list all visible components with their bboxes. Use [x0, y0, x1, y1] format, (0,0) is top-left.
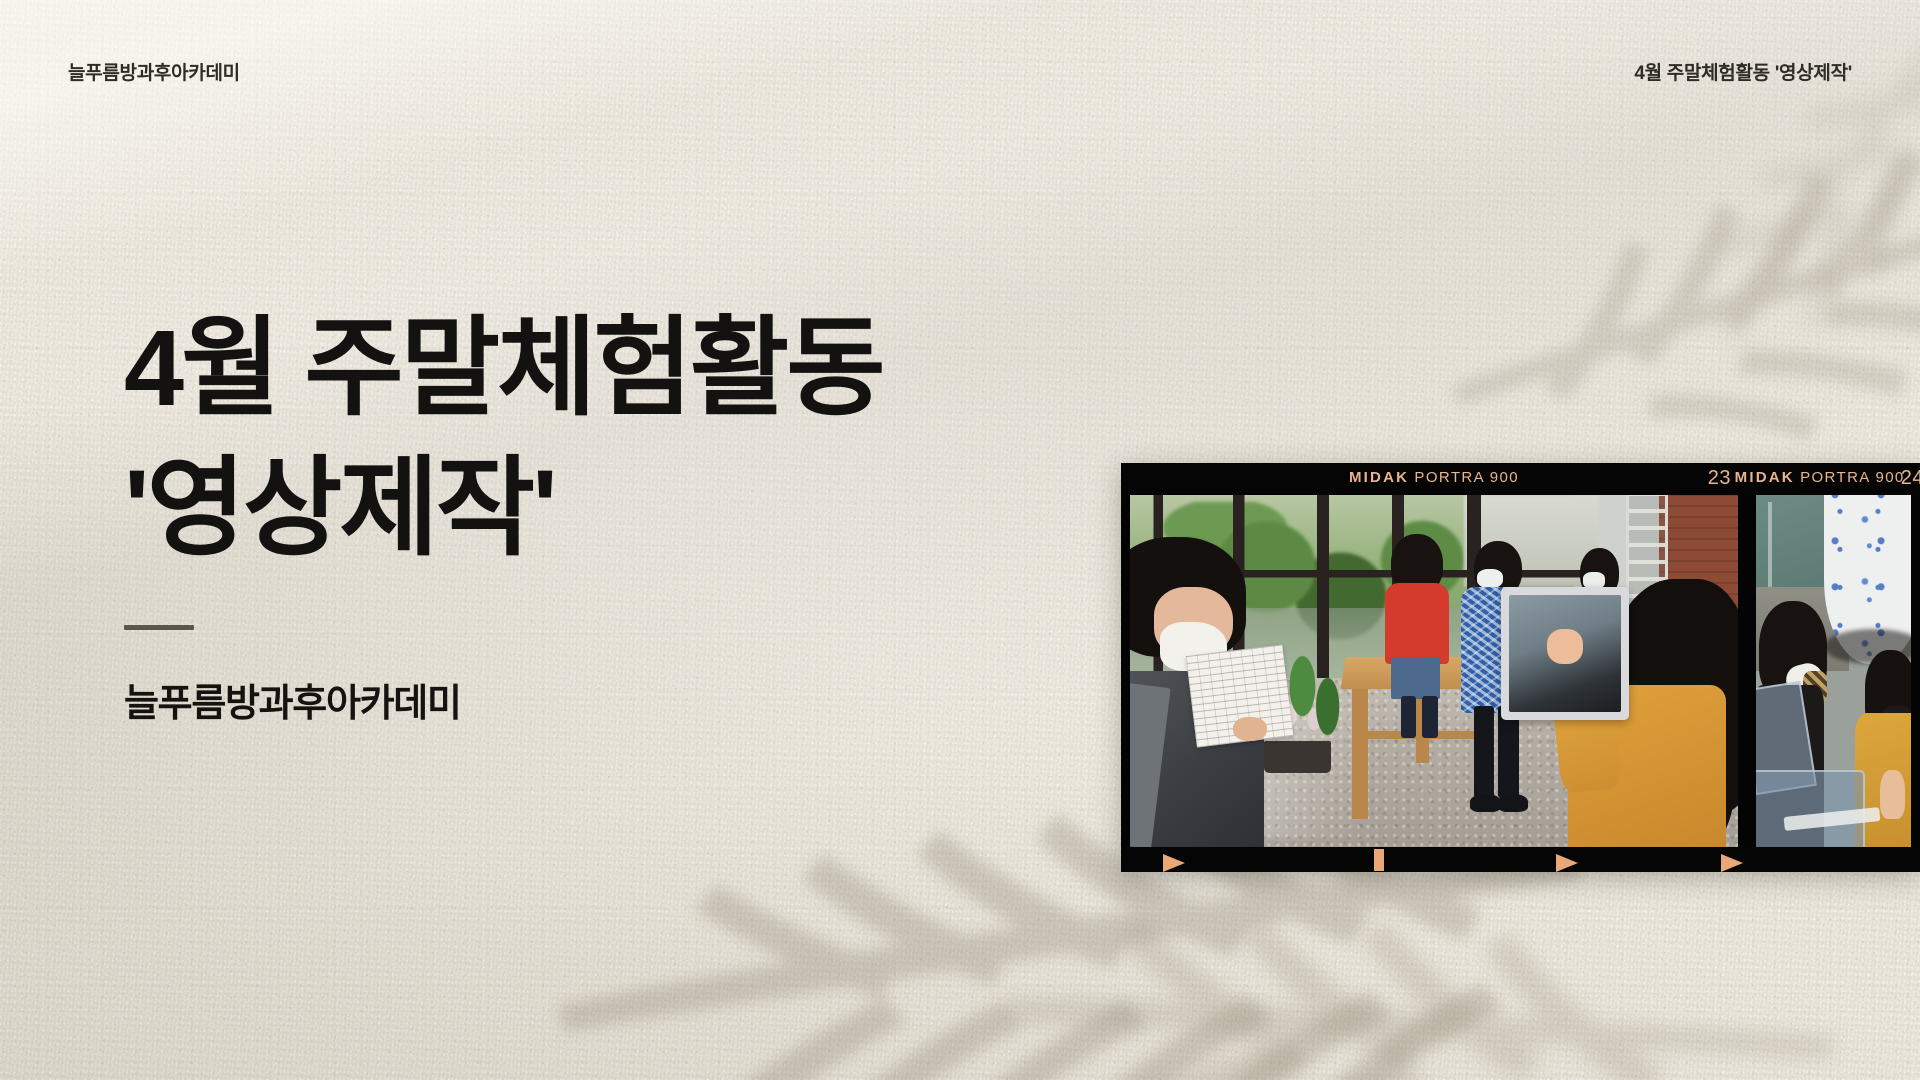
film-brand-light-2: PORTRA 900: [1800, 469, 1905, 486]
photo-scene-indoor-activity: [1756, 495, 1911, 847]
film-frame-1-header: MIDAK PORTRA 900 23: [1121, 463, 1747, 495]
header-right-label: 4월 주말체험활동 '영상제작': [1634, 58, 1852, 85]
student-blue-shoe-right: [1498, 794, 1528, 812]
photo-scene-classroom-filming: [1130, 495, 1738, 847]
clear-plastic-box: [1756, 770, 1865, 847]
student-blue-shoe-left: [1470, 794, 1500, 812]
plant-pot: [1264, 741, 1331, 773]
film-brand-bold-2: MIDAK: [1735, 469, 1795, 486]
title-block: 4월 주말체험활동 '영상제작' 늘푸름방과후아카데미: [124, 298, 883, 727]
student-red-jeans: [1391, 657, 1440, 699]
film-frame-1[interactable]: MIDAK PORTRA 900 23: [1121, 463, 1747, 872]
student-red-shirt: [1385, 583, 1449, 664]
student-red-leg-left: [1401, 696, 1417, 738]
presentation-slide: 늘푸름방과후아카데미 4월 주말체험활동 '영상제작' 4월 주말체험활동 '영…: [0, 0, 1920, 1080]
page-title-line-2: '영상제작': [124, 438, 883, 578]
film-frame-2-footer: [1747, 847, 1920, 872]
table-leg-front-left: [1352, 689, 1368, 819]
film-frame-2[interactable]: MIDAK PORTRA 900 24: [1747, 463, 1920, 872]
film-photo-2: [1756, 495, 1911, 847]
wall-panel-seam: [1768, 502, 1772, 586]
play-triangle-icon-frame2: [1721, 854, 1743, 872]
film-brand-label-1: MIDAK PORTRA 900: [1349, 469, 1519, 486]
film-strip-gallery: MIDAK PORTRA 900 23: [1121, 463, 1920, 872]
film-frame-1-footer: [1121, 847, 1747, 872]
film-brand-bold-1: MIDAK: [1349, 469, 1409, 486]
film-frame-number-2: 24: [1901, 467, 1920, 490]
film-brand-light-1: PORTRA 900: [1414, 469, 1519, 486]
foreground-girl-hand: [1547, 629, 1583, 664]
palm-leaf-shadow-bottom-two: [966, 847, 1874, 1080]
film-brand-label-2: MIDAK PORTRA 900: [1735, 469, 1905, 486]
page-title-line-1: 4월 주말체험활동: [124, 298, 883, 438]
page-subtitle: 늘푸름방과후아카데미: [124, 672, 883, 727]
header-left-label: 늘푸름방과후아카데미: [68, 58, 240, 85]
title-divider-rule: [124, 625, 194, 630]
film-frame-2-header: MIDAK PORTRA 900 24: [1747, 463, 1920, 495]
table-cross-rail: [1354, 731, 1483, 739]
foreground-boy-hand: [1233, 717, 1266, 742]
play-triangle-icon-left: [1163, 854, 1185, 872]
student-blue-leg-left: [1474, 706, 1495, 798]
film-photo-1: [1130, 495, 1738, 847]
student-red-leg-right: [1422, 696, 1438, 738]
tick-mark-icon: [1374, 849, 1384, 871]
student-blue-face-mask: [1477, 569, 1504, 588]
student-right-hand: [1880, 770, 1905, 819]
play-triangle-icon-right: [1556, 854, 1578, 872]
film-frame-number-1: 23: [1708, 467, 1731, 490]
